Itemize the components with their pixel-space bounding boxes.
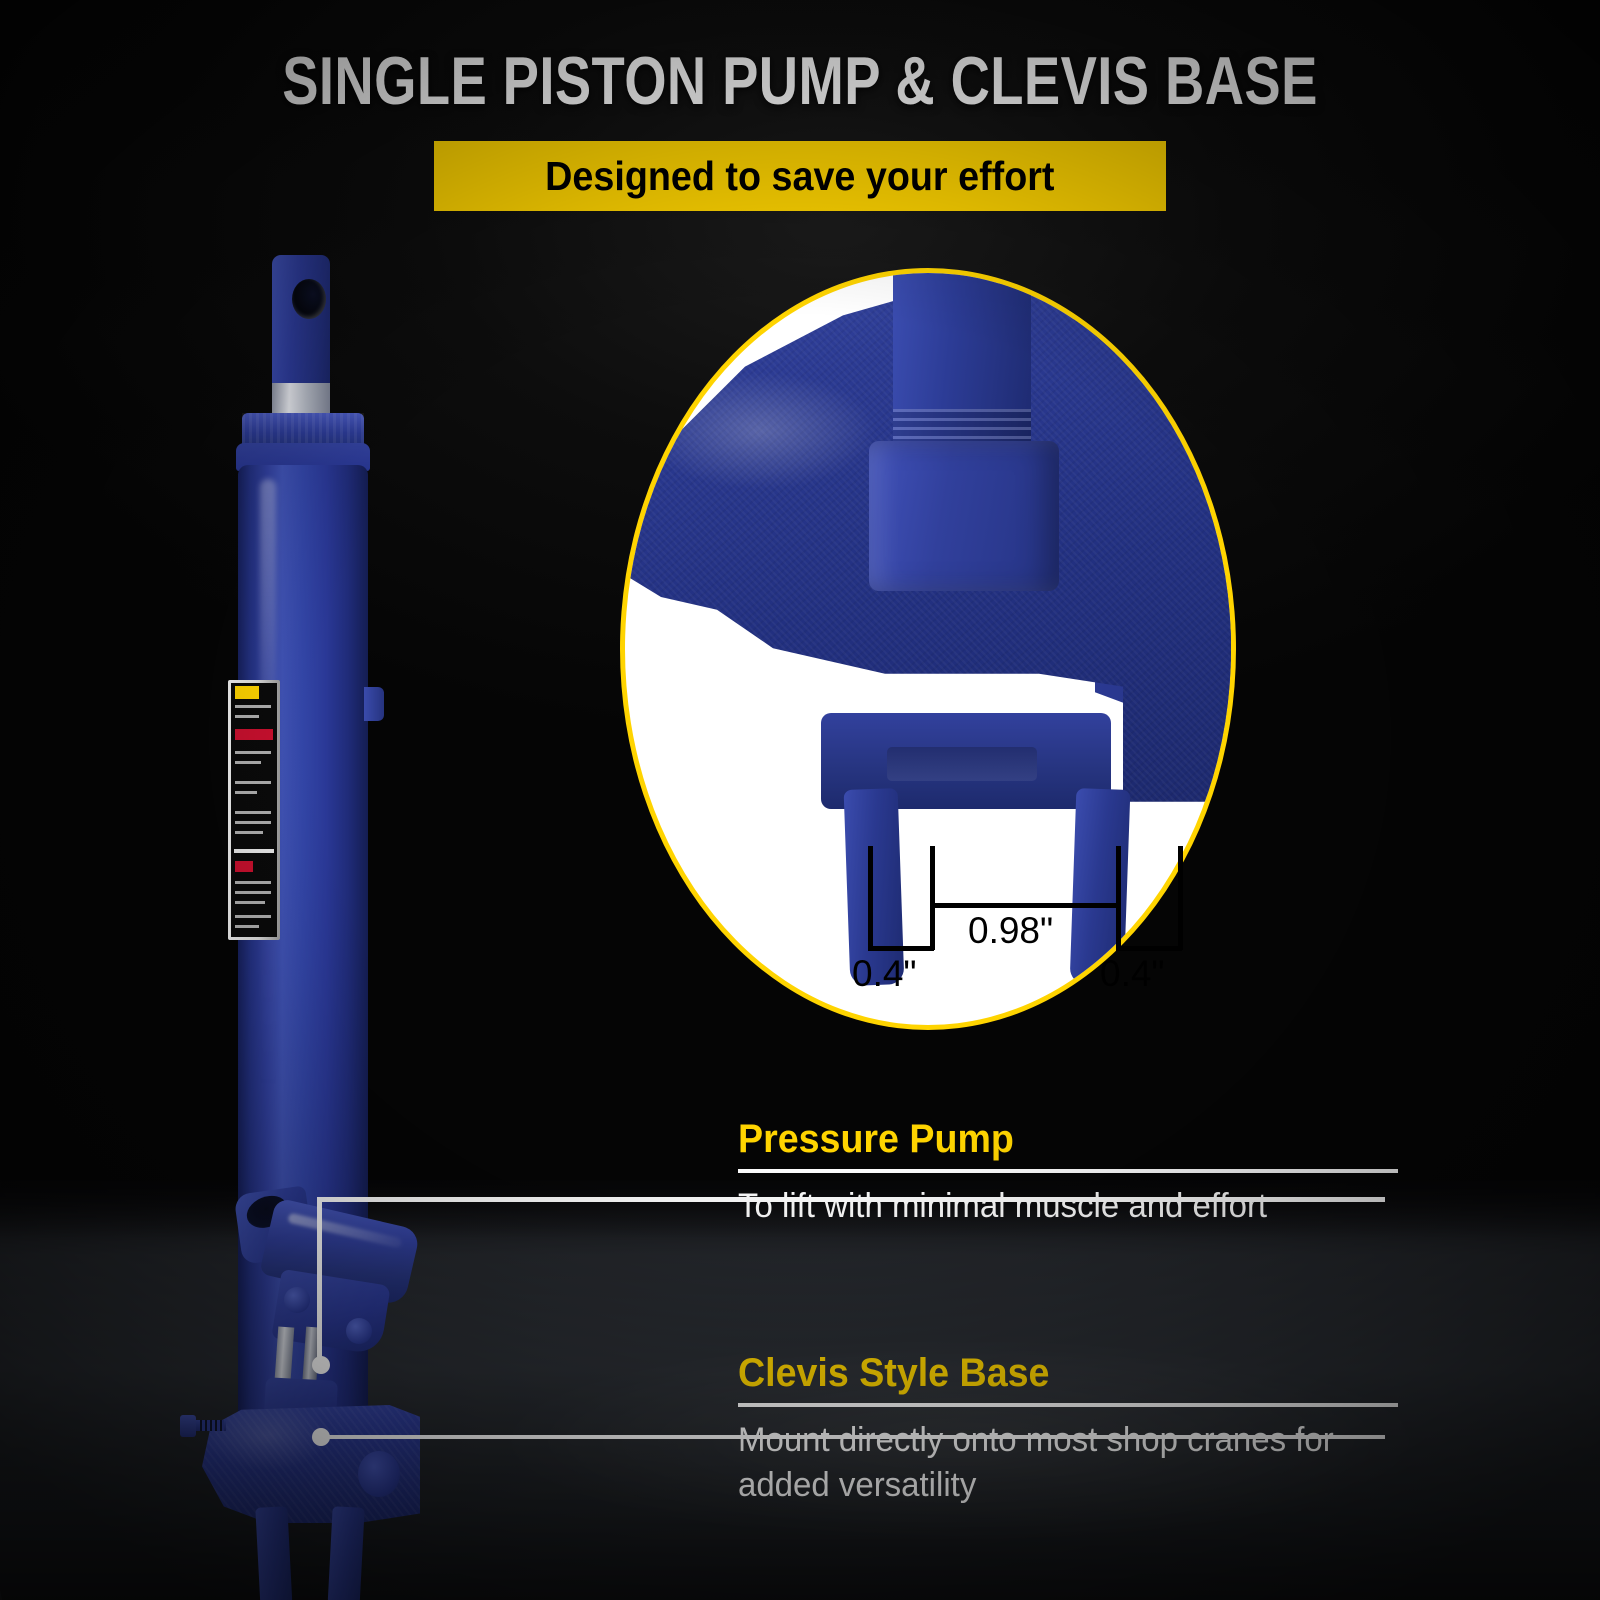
feature-body: Mount directly onto most shop cranes for… — [738, 1418, 1378, 1508]
feature-divider — [738, 1169, 1398, 1173]
dimension-label-center: 0.98" — [968, 910, 1053, 952]
cylinder-side-port — [364, 687, 384, 721]
clevis-base-closeup-image — [625, 273, 1231, 1025]
subtitle-banner: Designed to save your effort — [434, 141, 1166, 211]
dimension-label-right: 0.4" — [1100, 953, 1165, 995]
feature-heading: Pressure Pump — [738, 1118, 1358, 1160]
subtitle-text: Designed to save your effort — [545, 153, 1054, 200]
chrome-ram-band — [272, 383, 330, 417]
product-feature-graphic: SINGLE PISTON PUMP & CLEVIS BASE Designe… — [0, 0, 1600, 1600]
clevis-prong — [255, 1506, 292, 1600]
feature-block-pressure-pump: Pressure Pump To lift with minimal muscl… — [738, 1118, 1398, 1229]
clevis-prong — [327, 1506, 364, 1600]
feature-block-clevis-base: Clevis Style Base Mount directly onto mo… — [738, 1352, 1398, 1508]
warning-label — [228, 680, 280, 940]
ram-pin-hole — [292, 279, 326, 319]
zoom-detail-circle — [620, 268, 1236, 1030]
pump-pivot-bolt — [284, 1287, 310, 1313]
feature-divider — [738, 1403, 1398, 1407]
pump-pivot-bolt — [346, 1318, 372, 1344]
base-boss — [358, 1451, 400, 1497]
dimension-label-left: 0.4" — [852, 953, 917, 995]
page-title: SINGLE PISTON PUMP & CLEVIS BASE — [160, 42, 1440, 120]
ram-head — [272, 255, 330, 395]
hydraulic-jack-product-image — [180, 255, 440, 1585]
feature-body: To lift with minimal muscle and effort — [738, 1184, 1378, 1229]
feature-heading: Clevis Style Base — [738, 1352, 1358, 1394]
release-valve-knob — [180, 1415, 226, 1437]
